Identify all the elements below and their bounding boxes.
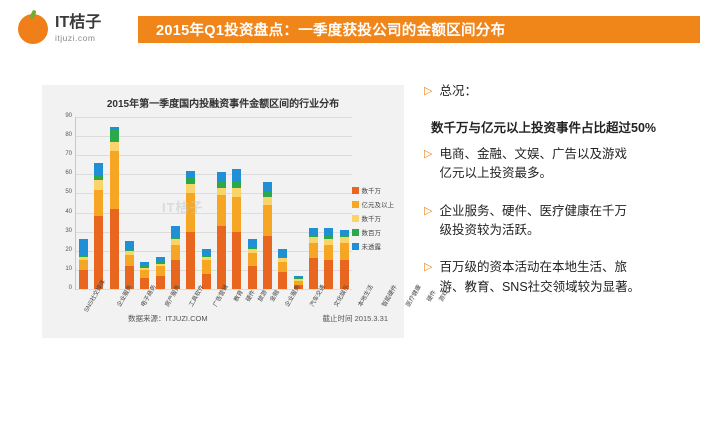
chart-panel: 2015年第一季度国内投融资事件金额区间的行业分布 01020304050607… — [42, 85, 404, 338]
y-tick-label: 60 — [65, 170, 72, 176]
bullet-line: 数千万与亿元以上投资事件占比超过50% — [431, 119, 656, 138]
bar-slot — [168, 117, 183, 289]
y-tick-label: 0 — [69, 285, 72, 291]
stacked-bar[interactable] — [110, 127, 119, 289]
bar-segment — [125, 241, 134, 249]
chart-date: 截止时间 2015.3.31 — [323, 313, 388, 324]
gridline: 0 — [76, 289, 352, 290]
legend-label: 数百万 — [362, 227, 382, 237]
bar-segment — [79, 260, 88, 270]
stacked-bar[interactable] — [186, 171, 195, 289]
bullet-line: 企业服务、硬件、医疗健康在千万 — [439, 202, 627, 221]
legend-swatch — [352, 201, 359, 208]
legend-swatch — [352, 215, 359, 222]
bullet-item: ▷总况： — [424, 82, 696, 101]
bar-segment — [110, 130, 119, 141]
bar-segment — [278, 272, 287, 289]
bar-segment — [263, 236, 272, 290]
stacked-bar[interactable] — [248, 239, 257, 289]
y-tick-label: 80 — [65, 132, 72, 138]
bar-slot — [214, 117, 229, 289]
bullet-arrow-icon: ▷ — [424, 82, 432, 101]
stacked-bar[interactable] — [232, 169, 241, 289]
x-tick-label: 医疗健康 — [401, 291, 425, 300]
bar-segment — [309, 243, 318, 258]
bar-series-container — [76, 117, 352, 289]
x-tick-label: 汽车交通 — [305, 291, 329, 300]
stacked-bar[interactable] — [278, 249, 287, 289]
stacked-bar[interactable] — [94, 163, 103, 289]
bar-slot — [291, 117, 306, 289]
legend-swatch — [352, 243, 359, 250]
x-tick-label: SNS社交媒体 — [76, 291, 112, 300]
bar-slot — [199, 117, 214, 289]
bar-segment — [110, 151, 119, 208]
bar-segment — [79, 270, 88, 289]
bar-slot — [337, 117, 352, 289]
bullet-text: 电商、金融、文娱、广告以及游戏亿元以上投资最多。 — [439, 145, 627, 184]
bar-segment — [217, 172, 226, 182]
bar-segment — [94, 163, 103, 176]
chart-plot-area: 0102030405060708090 — [76, 117, 352, 289]
bar-segment — [232, 188, 241, 198]
stacked-bar[interactable] — [309, 228, 318, 289]
bar-segment — [186, 184, 195, 194]
legend-swatch — [352, 229, 359, 236]
bar-slot — [229, 117, 244, 289]
bar-segment — [217, 188, 226, 196]
bar-segment — [263, 197, 272, 205]
brand-text: IT桔子 itjuzi.com — [55, 15, 101, 43]
stacked-bar[interactable] — [202, 249, 211, 289]
bar-segment — [217, 195, 226, 226]
bar-segment — [248, 239, 257, 247]
bullet-text: 百万级的资本活动在本地生活、旅游、教育、SNS社交领域较为显著。 — [439, 258, 640, 297]
bar-segment — [171, 226, 180, 237]
x-tick-label: 房产服务 — [160, 291, 184, 300]
bar-segment — [324, 245, 333, 260]
bar-slot — [275, 117, 290, 289]
bar-slot — [122, 117, 137, 289]
bullet-list: ▷总况：数千万与亿元以上投资事件占比超过50%▷电商、金融、文娱、广告以及游戏亿… — [424, 82, 696, 315]
legend-label: 亿元及以上 — [362, 199, 395, 209]
brand-subtitle: itjuzi.com — [55, 34, 101, 43]
bar-segment — [217, 226, 226, 289]
bar-segment — [232, 197, 241, 231]
bar-segment — [110, 209, 119, 289]
bullet-text: 企业服务、硬件、医疗健康在千万级投资较为活跃。 — [439, 202, 627, 241]
bullet-line: 级投资较为活跃。 — [439, 221, 627, 240]
y-tick-label: 70 — [65, 151, 72, 157]
bullet-line: 总况： — [439, 82, 477, 101]
legend-item[interactable]: 数千万 — [352, 213, 395, 223]
x-tick-labels: SNS社交媒体企业服务电子商务房产服务工具软件广告营销教育硬件旅游金融企业服务汽… — [76, 291, 352, 300]
stacked-bar[interactable] — [217, 172, 226, 289]
bar-segment — [79, 239, 88, 254]
bar-segment — [309, 228, 318, 236]
stacked-bar[interactable] — [263, 182, 272, 289]
bullet-item: 数千万与亿元以上投资事件占比超过50% — [424, 119, 696, 138]
y-tick-label: 10 — [65, 266, 72, 272]
orange-circle-logo-icon — [18, 14, 48, 44]
bar-segment — [171, 245, 180, 260]
x-tick-label: 企业服务 — [112, 291, 136, 300]
bullet-text: 数千万与亿元以上投资事件占比超过50% — [431, 119, 656, 138]
bar-slot — [306, 117, 321, 289]
x-tick-label: 本地生活 — [353, 291, 377, 300]
bar-segment — [125, 255, 134, 266]
y-tick-label: 90 — [65, 113, 72, 119]
stacked-bar[interactable] — [79, 239, 88, 289]
legend-label: 未透露 — [362, 241, 382, 251]
bullet-item: ▷百万级的资本活动在本地生活、旅游、教育、SNS社交领域较为显著。 — [424, 258, 696, 297]
x-tick-label: 广告营销 — [208, 291, 232, 300]
slide-page: IT桔子 itjuzi.com 2015年Q1投资盘点：一季度获投公司的金额区间… — [0, 0, 714, 443]
stacked-bar[interactable] — [340, 230, 349, 289]
legend-swatch — [352, 187, 359, 194]
bar-segment — [110, 142, 119, 152]
stacked-bar[interactable] — [324, 228, 333, 289]
bar-segment — [202, 260, 211, 273]
bar-segment — [232, 232, 241, 289]
bar-segment — [278, 262, 287, 272]
chart-source: 数据来源：ITJUZI.COM — [128, 313, 208, 324]
stacked-bar[interactable] — [125, 241, 134, 289]
x-tick-label: 企业服务 — [280, 291, 304, 300]
y-tick-label: 30 — [65, 228, 72, 234]
bar-segment — [186, 193, 195, 231]
bar-slot — [76, 117, 91, 289]
bullet-line: 电商、金融、文娱、广告以及游戏 — [439, 145, 627, 164]
x-tick-label: 文化娱乐 — [329, 291, 353, 300]
bullet-line: 游、教育、SNS社交领域较为显著。 — [439, 278, 640, 297]
bar-segment — [186, 171, 195, 179]
bar-segment — [94, 180, 103, 190]
x-tick-label: 智能硬件 — [377, 291, 401, 300]
bullet-item: ▷企业服务、硬件、医疗健康在千万级投资较为活跃。 — [424, 202, 696, 241]
x-tick-label: 工具软件 — [184, 291, 208, 300]
legend-item[interactable]: 数千万 — [352, 185, 395, 195]
bar-slot — [153, 117, 168, 289]
y-tick-label: 50 — [65, 189, 72, 195]
chart-legend: 数千万亿元及以上数千万数百万未透露 — [352, 185, 395, 255]
bar-slot — [107, 117, 122, 289]
bar-slot — [245, 117, 260, 289]
bar-segment — [232, 169, 241, 182]
y-tick-label: 40 — [65, 209, 72, 215]
legend-item[interactable]: 亿元及以上 — [352, 199, 395, 209]
bar-segment — [263, 205, 272, 236]
bar-segment — [248, 253, 257, 266]
page-title: 2015年Q1投资盘点：一季度获投公司的金额区间分布 — [138, 19, 505, 40]
chart-title: 2015年第一季度国内投融资事件金额区间的行业分布 — [42, 95, 404, 110]
bar-segment — [263, 182, 272, 192]
bar-segment — [340, 243, 349, 260]
bullet-text: 总况： — [439, 82, 477, 101]
legend-item[interactable]: 数百万 — [352, 227, 395, 237]
bar-slot — [91, 117, 106, 289]
stacked-bar[interactable] — [171, 226, 180, 289]
legend-label: 数千万 — [362, 213, 382, 223]
x-tick-label: 电子商务 — [136, 291, 160, 300]
bar-slot — [321, 117, 336, 289]
bar-slot — [183, 117, 198, 289]
bar-segment — [94, 190, 103, 217]
bar-segment — [324, 260, 333, 289]
bar-segment — [140, 270, 149, 278]
bar-segment — [278, 249, 287, 257]
bar-segment — [248, 266, 257, 289]
brand-title: IT桔子 — [55, 15, 101, 32]
y-tick-label: 20 — [65, 247, 72, 253]
bar-segment — [156, 266, 165, 276]
legend-item[interactable]: 未透露 — [352, 241, 395, 251]
brand-logo: IT桔子 itjuzi.com — [18, 14, 101, 44]
bar-slot — [137, 117, 152, 289]
bar-slot — [260, 117, 275, 289]
bullet-item: ▷电商、金融、文娱、广告以及游戏亿元以上投资最多。 — [424, 145, 696, 184]
header-title-bar: 2015年Q1投资盘点：一季度获投公司的金额区间分布 — [138, 16, 700, 43]
stacked-bar[interactable] — [156, 257, 165, 289]
bullet-arrow-icon: ▷ — [424, 202, 432, 241]
bar-segment — [324, 228, 333, 236]
bullet-line: 亿元以上投资最多。 — [439, 164, 627, 183]
bullet-line: 百万级的资本活动在本地生活、旅 — [439, 258, 640, 277]
bullet-arrow-icon: ▷ — [424, 258, 432, 297]
bar-segment — [186, 232, 195, 289]
x-tick-label: 金融 — [268, 291, 280, 300]
legend-label: 数千万 — [362, 185, 382, 195]
bullet-arrow-icon: ▷ — [424, 145, 432, 184]
